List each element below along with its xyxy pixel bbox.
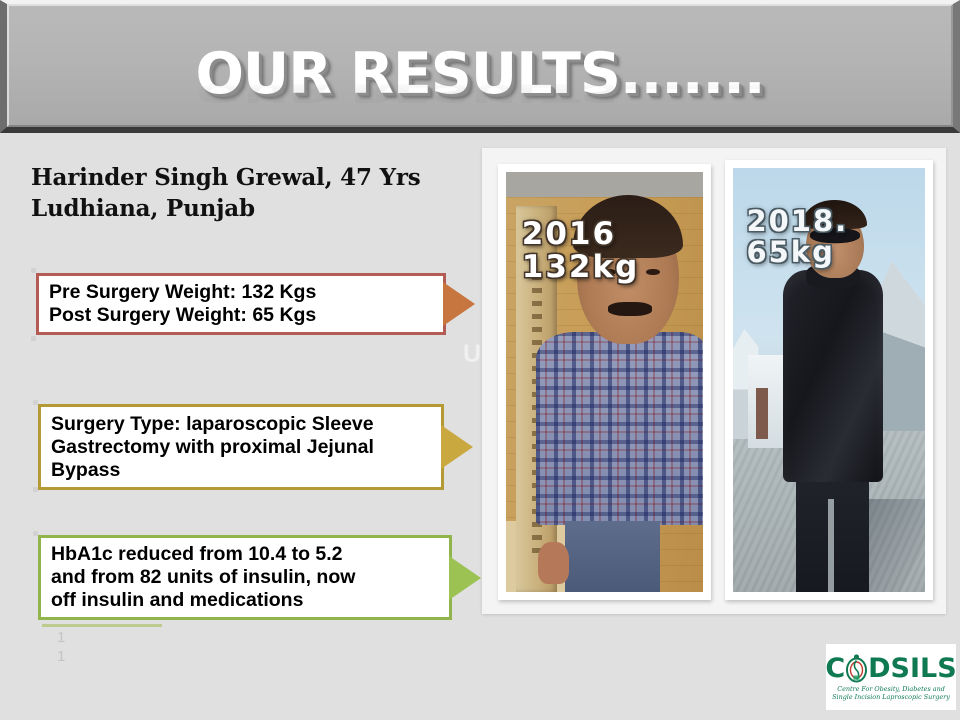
plaid-shirt xyxy=(536,332,703,525)
logo-emblem-icon xyxy=(845,654,868,683)
callout-weight-text: Pre Surgery Weight: 132 Kgs Post Surgery… xyxy=(39,277,324,331)
logo-word-start: C xyxy=(825,655,845,682)
after-photo-card: 2018. 65kg xyxy=(725,160,933,600)
bullet-tick xyxy=(31,336,36,341)
title-wrap: OUR RESULTS....... OUR RESULTS....... xyxy=(7,46,953,162)
logo-tagline: Centre For Obesity, Diabetes and Single … xyxy=(832,685,950,701)
stray-character: U xyxy=(463,340,481,369)
codsils-logo: C DSILS Centre For Obesity, Diabetes and… xyxy=(826,644,956,710)
leather-jacket xyxy=(783,270,883,482)
photo-panel: 2016 132kg xyxy=(482,148,946,614)
callout-surgery-type-arrow-icon xyxy=(441,425,473,469)
before-photo-card: 2016 132kg xyxy=(498,164,711,600)
jeans xyxy=(565,521,660,592)
hand xyxy=(538,542,570,584)
logo-wordmark: C DSILS xyxy=(825,654,956,683)
slide-canvas: OUR RESULTS....... OUR RESULTS....... Ha… xyxy=(0,0,960,720)
page-title-reflection: OUR RESULTS....... xyxy=(7,79,953,105)
callout-weight-arrow-icon xyxy=(443,282,475,326)
slide-number-rule xyxy=(42,624,162,627)
callout-surgery-type[interactable]: Surgery Type: laparoscopic Sleeve Gastre… xyxy=(38,404,444,490)
callout-weight[interactable]: Pre Surgery Weight: 132 Kgs Post Surgery… xyxy=(36,273,446,335)
patient-name-heading: Harinder Singh Grewal, 47 Yrs Ludhiana, … xyxy=(31,162,471,224)
callout-hba1c[interactable]: HbA1c reduced from 10.4 to 5.2 and from … xyxy=(38,535,452,620)
slide-number: 1 1 xyxy=(57,629,65,667)
after-photo-image: 2018. 65kg xyxy=(733,168,925,592)
logo-word-end: DSILS xyxy=(868,655,957,682)
title-banner: OUR RESULTS....... OUR RESULTS....... xyxy=(0,0,960,133)
after-photo-caption: 2018. 65kg xyxy=(746,206,848,267)
callout-hba1c-arrow-icon xyxy=(449,556,481,600)
right-eye xyxy=(646,269,660,276)
callout-surgery-type-text: Surgery Type: laparoscopic Sleeve Gastre… xyxy=(41,409,382,486)
before-photo-caption: 2016 132kg xyxy=(522,218,640,284)
callout-hba1c-text: HbA1c reduced from 10.4 to 5.2 and from … xyxy=(41,539,363,616)
before-photo-image: 2016 132kg xyxy=(506,172,703,592)
leg-gap xyxy=(828,499,834,592)
door xyxy=(756,388,768,439)
mustache xyxy=(608,302,651,315)
